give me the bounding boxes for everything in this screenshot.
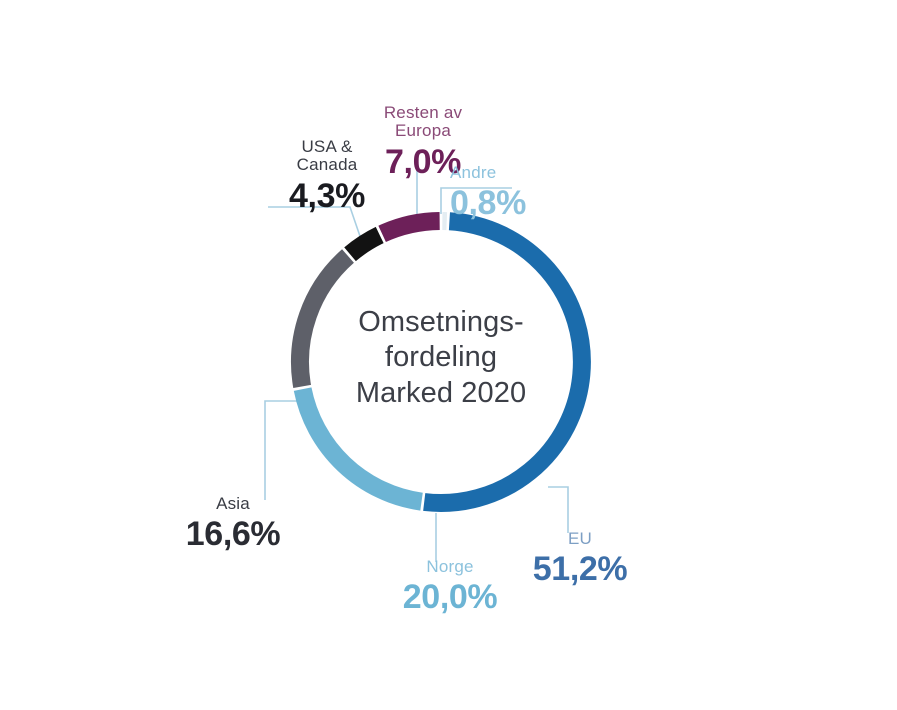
slice-value-usa-canada: 4,3% — [222, 179, 432, 213]
slice-value-asia: 16,6% — [128, 517, 338, 551]
chart-canvas: Omsetnings- fordeling Marked 2020 Resten… — [0, 0, 897, 710]
leader-line-asia — [265, 401, 300, 500]
slice-label-usa-canada: USA & Canada 4,3% — [222, 138, 432, 213]
slice-label-name-usa-canada: USA & Canada — [222, 138, 432, 175]
leader-line-eu — [548, 487, 568, 533]
slice-value-andre: 0,8% — [450, 186, 670, 220]
center-title-line-3: Marked 2020 — [311, 376, 571, 411]
slice-label-asia: Asia 16,6% — [128, 495, 338, 551]
donut-slice-resten-av-europa[interactable] — [382, 221, 440, 234]
slice-label-andre: Andre 0,8% — [450, 164, 670, 220]
chart-center-title: Omsetnings- fordeling Marked 2020 — [311, 305, 571, 411]
slice-label-norge: Norge 20,0% — [345, 558, 555, 614]
slice-value-norge: 20,0% — [345, 580, 555, 614]
center-title-line-1: Omsetnings- — [311, 305, 571, 340]
slice-label-name-eu: EU — [470, 530, 690, 548]
donut-slice-usa-canada[interactable] — [350, 235, 380, 254]
slice-label-name-andre: Andre — [450, 164, 670, 182]
slice-label-name-norge: Norge — [345, 558, 555, 576]
slice-label-name-asia: Asia — [128, 495, 338, 513]
slice-label-name-resten-av-europa: Resten av Europa — [318, 104, 528, 141]
center-title-line-2: fordeling — [311, 340, 571, 375]
